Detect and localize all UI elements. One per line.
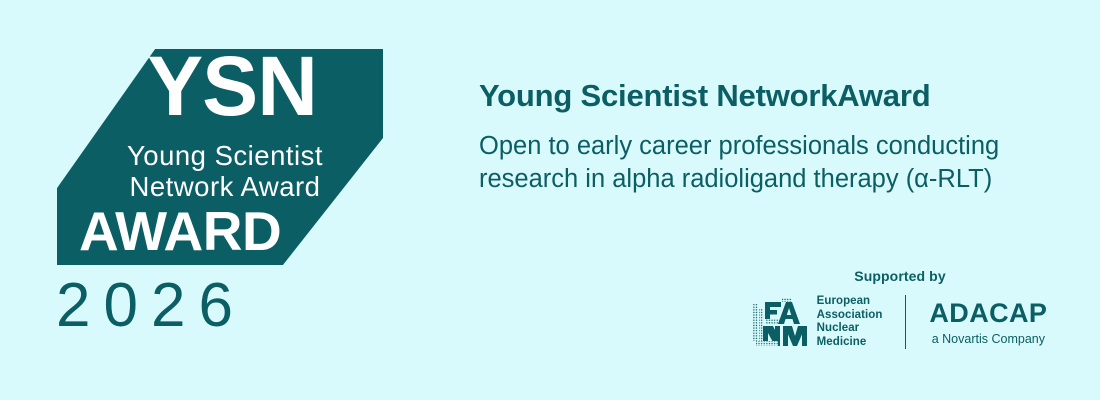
ysn-badge: YSN Young Scientist Network Award AWARD … [0, 0, 440, 400]
copy-block: Young Scientist NetworkAward Open to ear… [479, 78, 1059, 196]
eanm-line-1: European [817, 295, 883, 309]
badge-polygon-shape [57, 49, 383, 265]
eanm-line-4: Medicine [817, 336, 883, 350]
eanm-logo-icon [753, 296, 809, 348]
sponsor-logos: European Association Nuclear Medicine AD… [740, 295, 1060, 349]
eanm-line-2: Association [817, 309, 883, 323]
supported-by-label: Supported by [740, 268, 1060, 284]
eanm-name-text: European Association Nuclear Medicine [817, 295, 883, 349]
adacap-logo: ADACAP a Novartis Company [929, 298, 1047, 347]
eanm-line-3: Nuclear [817, 322, 883, 336]
ysn-award-banner: YSN Young Scientist Network Award AWARD … [0, 0, 1100, 400]
description-text: Open to early career professionals condu… [479, 130, 1039, 196]
eanm-logo: European Association Nuclear Medicine [753, 295, 883, 349]
adacap-wordmark: ADACAP [929, 298, 1047, 328]
sponsor-divider [905, 295, 906, 349]
adacap-tagline: a Novartis Company [929, 331, 1047, 347]
page-title: Young Scientist NetworkAward [479, 78, 1059, 114]
badge-year: 2026 [56, 273, 246, 339]
supported-by-block: Supported by [740, 268, 1060, 349]
